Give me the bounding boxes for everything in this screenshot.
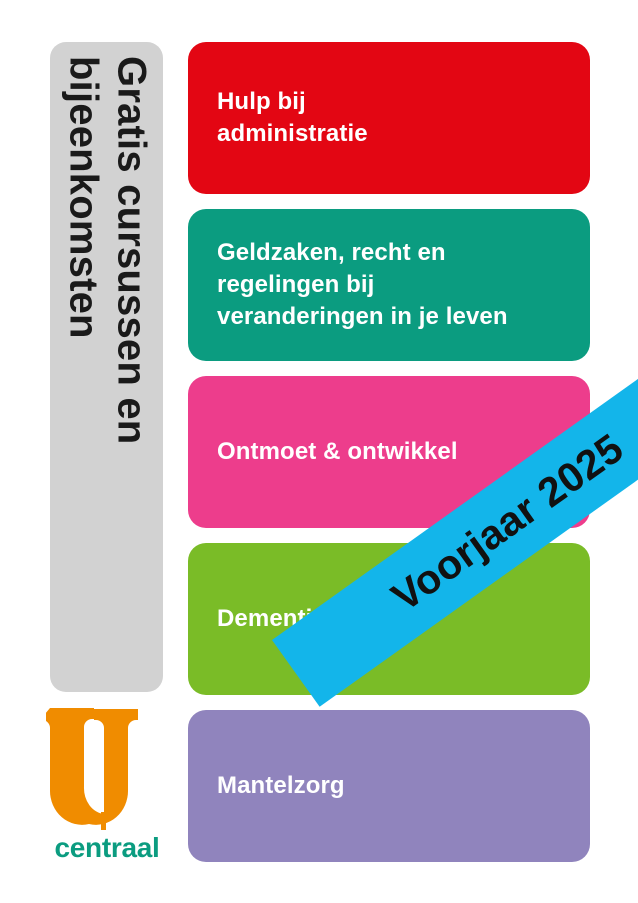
topic-card-list: Hulp bij administratie Geldzaken, recht … (188, 42, 590, 872)
topic-card-label: Hulp bij administratie (217, 86, 368, 149)
vertical-title-text-block: Gratis cursussen en bijeenkomsten (50, 42, 163, 692)
topic-card-mantelzorg[interactable]: Mantelzorg (188, 710, 590, 862)
vertical-title-panel: Gratis cursussen en bijeenkomsten (50, 42, 163, 692)
topic-card-ontmoet-en-ontwikkel[interactable]: Ontmoet & ontwikkel (188, 376, 590, 528)
topic-card-label: Dementie (217, 603, 326, 635)
topic-card-geldzaken-recht-en-regelingen[interactable]: Geldzaken, recht en regelingen bij veran… (188, 209, 590, 361)
topic-card-dementie[interactable]: Dementie (188, 543, 590, 695)
topic-card-label: Geldzaken, recht en regelingen bij veran… (217, 237, 508, 332)
topic-card-label: Mantelzorg (217, 770, 345, 802)
vertical-title-line-2: bijeenkomsten (59, 56, 106, 339)
u-centraal-logo: centraal (46, 702, 168, 872)
poster-root: Gratis cursussen en bijeenkomsten centra… (0, 0, 638, 903)
logo-wordmark: centraal (46, 832, 168, 864)
logo-u-icon (46, 702, 168, 832)
topic-card-hulp-bij-administratie[interactable]: Hulp bij administratie (188, 42, 590, 194)
vertical-title-line-1: Gratis cursussen en (107, 56, 154, 444)
topic-card-label: Ontmoet & ontwikkel (217, 436, 458, 468)
